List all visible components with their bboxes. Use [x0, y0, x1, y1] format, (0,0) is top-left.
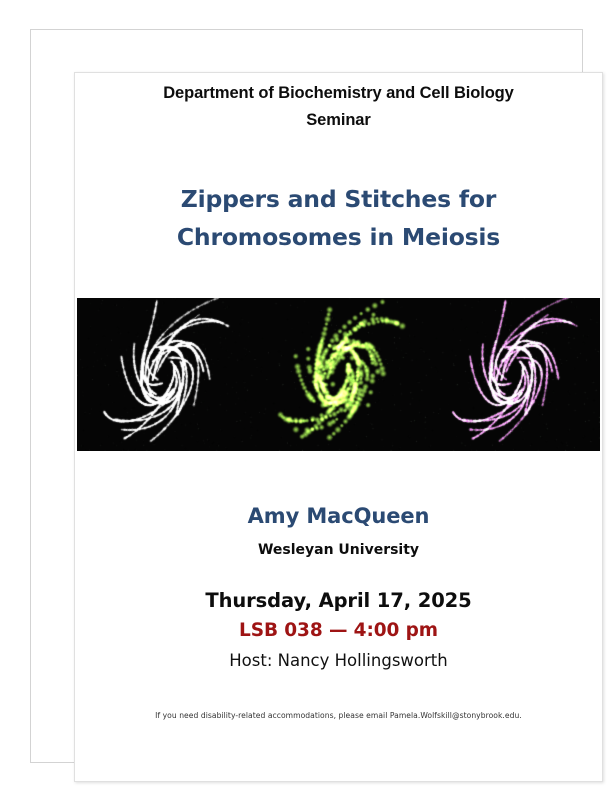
department-line-1: Department of Biochemistry and Cell Biol…	[75, 81, 602, 106]
page-outer-frame: Department of Biochemistry and Cell Biol…	[30, 29, 583, 763]
speaker-affiliation: Wesleyan University	[75, 542, 602, 558]
event-host: Host: Nancy Hollingsworth	[75, 651, 602, 670]
speaker-name: Amy MacQueen	[75, 504, 602, 528]
poster-content-frame: Department of Biochemistry and Cell Biol…	[74, 72, 603, 782]
talk-title-line-1: Zippers and Stitches for	[75, 182, 602, 217]
micrograph-canvas	[77, 298, 600, 451]
talk-title-line-2: Chromosomes in Meiosis	[75, 220, 602, 255]
poster-body: Department of Biochemistry and Cell Biol…	[75, 73, 602, 781]
event-location-time: LSB 038 — 4:00 pm	[75, 620, 602, 641]
accessibility-note: If you need disability-related accommoda…	[75, 711, 602, 720]
micrograph-figure	[77, 298, 600, 451]
department-line-2: Seminar	[75, 108, 602, 133]
event-date: Thursday, April 17, 2025	[75, 589, 602, 612]
